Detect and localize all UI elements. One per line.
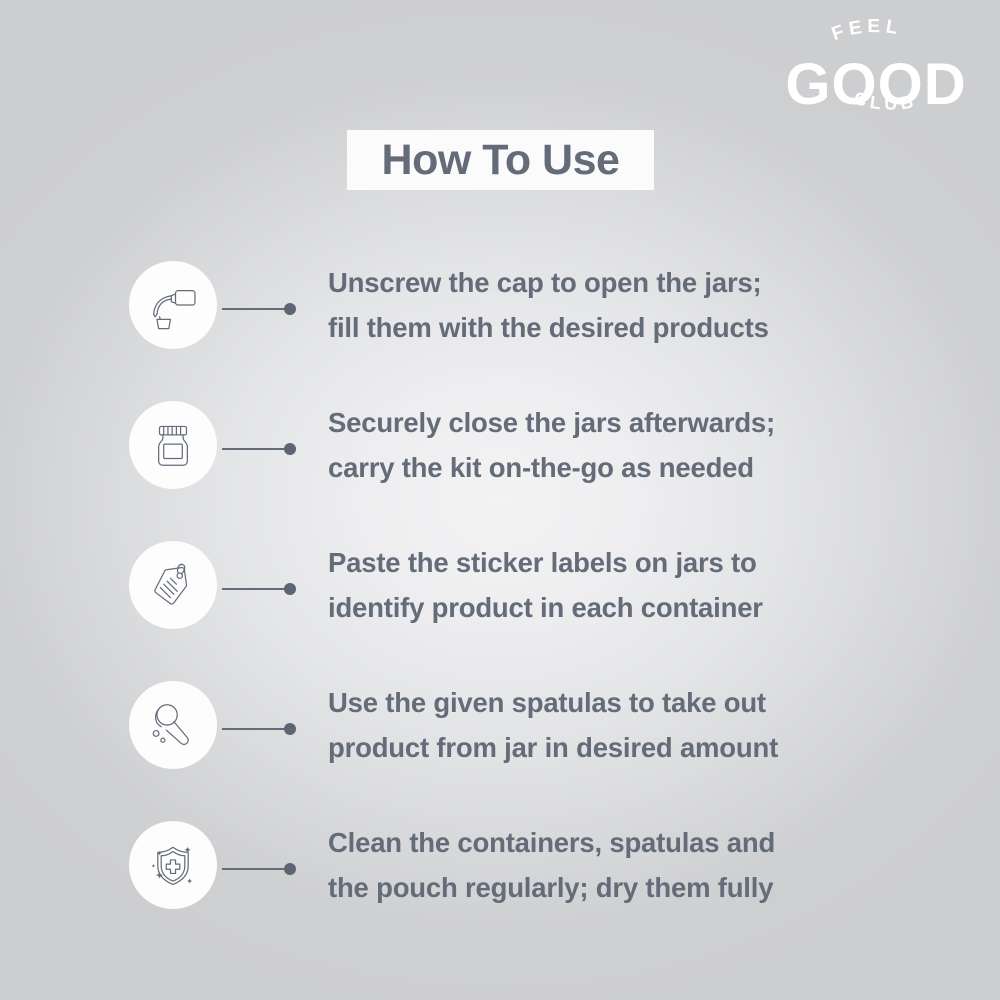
connector-dot <box>284 863 296 875</box>
connector-dot <box>284 303 296 315</box>
connector-line <box>222 588 290 590</box>
connector-dot <box>284 723 296 735</box>
step-text-line: the pouch regularly; dry them fully <box>328 865 928 910</box>
step-text-line: Paste the sticker labels on jars to <box>328 540 928 585</box>
spatula-scoop-icon <box>129 681 217 769</box>
step-text: Securely close the jars afterwards; carr… <box>328 400 928 490</box>
bottle-pouring-icon <box>129 261 217 349</box>
step-text-line: Use the given spatulas to take out <box>328 680 928 725</box>
connector-line <box>222 308 290 310</box>
step-text: Use the given spatulas to take out produ… <box>328 680 928 770</box>
step-item: Use the given spatulas to take out produ… <box>0 660 1000 800</box>
connector-line <box>222 868 290 870</box>
step-text-line: identify product in each container <box>328 585 928 630</box>
step-item: Unscrew the cap to open the jars; fill t… <box>0 240 1000 380</box>
connector-dot <box>284 443 296 455</box>
jar-icon <box>129 401 217 489</box>
shield-cross-sparkle-icon <box>129 821 217 909</box>
svg-text:FEEL: FEEL <box>829 18 904 45</box>
step-text-line: fill them with the desired products <box>328 305 928 350</box>
title-banner: How To Use <box>347 130 654 190</box>
steps-list: Unscrew the cap to open the jars; fill t… <box>0 240 1000 940</box>
connector <box>222 303 296 315</box>
step-text: Unscrew the cap to open the jars; fill t… <box>328 260 928 350</box>
step-item: Paste the sticker labels on jars to iden… <box>0 520 1000 660</box>
step-text: Paste the sticker labels on jars to iden… <box>328 540 928 630</box>
connector-line <box>222 728 290 730</box>
step-item: Securely close the jars afterwards; carr… <box>0 380 1000 520</box>
connector <box>222 443 296 455</box>
connector-dot <box>284 583 296 595</box>
step-text-line: Securely close the jars afterwards; <box>328 400 928 445</box>
connector-line <box>222 448 290 450</box>
step-text-line: product from jar in desired amount <box>328 725 928 770</box>
tag-label-icon <box>129 541 217 629</box>
step-text-line: Unscrew the cap to open the jars; <box>328 260 928 305</box>
step-text-line: Clean the containers, spatulas and <box>328 820 928 865</box>
connector <box>222 583 296 595</box>
step-text-line: carry the kit on-the-go as needed <box>328 445 928 490</box>
logo-feel-text: FEEL <box>829 18 904 45</box>
step-item: Clean the containers, spatulas and the p… <box>0 800 1000 940</box>
connector <box>222 863 296 875</box>
step-text: Clean the containers, spatulas and the p… <box>328 820 928 910</box>
how-to-use-poster: FEEL GOOD CLUB How To Use <box>0 0 1000 1000</box>
brand-logo: FEEL GOOD CLUB <box>772 18 980 130</box>
connector <box>222 723 296 735</box>
page-title: How To Use <box>382 139 620 182</box>
